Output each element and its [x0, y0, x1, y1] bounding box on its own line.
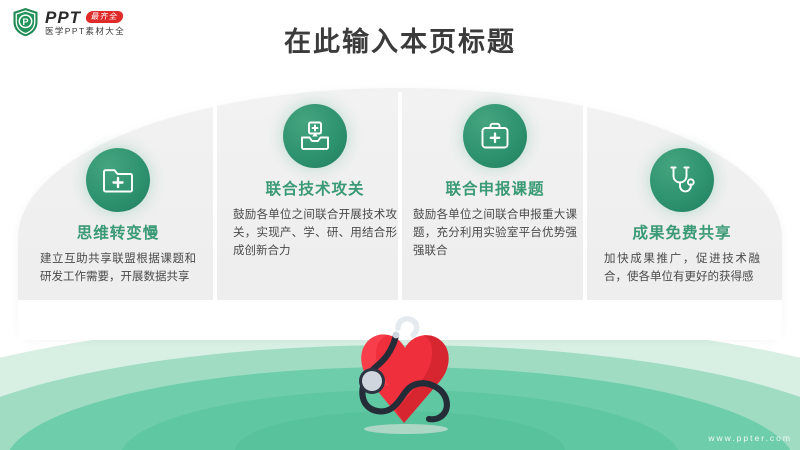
feature-card-1[interactable]: 思维转变慢 建立互助共享联盟根据课题和研发工作需要，开展数据共享	[28, 148, 208, 286]
illustration-shadow	[364, 424, 448, 434]
feature-card-3[interactable]: 联合申报课题 鼓励各单位之间联合申报重大课题，充分利用实验室平台优势强强联合	[405, 104, 585, 260]
stethoscope-icon[interactable]	[650, 148, 714, 212]
heart-with-stethoscope-illustration	[330, 315, 480, 440]
card-title: 思维转变慢	[28, 221, 208, 243]
card-body: 鼓励各单位之间联合申报重大课题，充分利用实验室平台优势强强联合	[405, 206, 585, 260]
panel-divider-1	[213, 92, 217, 310]
stethoscope-earpiece-tube	[398, 319, 417, 335]
medical-briefcase-plus-icon[interactable]	[463, 104, 527, 168]
feature-card-2[interactable]: 联合技术攻关 鼓励各单位之间联合开展技术攻关，实现产、学、研、用结合形成创新合力	[225, 104, 405, 260]
card-title: 成果免费共享	[592, 221, 772, 243]
card-title: 联合技术攻关	[225, 177, 405, 199]
site-watermark: www.ppter.com	[708, 433, 792, 443]
inbox-upload-plus-icon[interactable]	[283, 104, 347, 168]
card-body: 建立互助共享联盟根据课题和研发工作需要，开展数据共享	[28, 250, 208, 286]
stethoscope-connector	[393, 332, 400, 339]
page-title: 在此输入本页标题	[0, 20, 800, 59]
card-title: 联合申报课题	[405, 177, 585, 199]
card-body: 鼓励各单位之间联合开展技术攻关，实现产、学、研、用结合形成创新合力	[225, 206, 405, 260]
chestpiece-diaphragm	[362, 371, 382, 391]
feature-card-4[interactable]: 成果免费共享 加快成果推广，促进技术融合，使各单位有更好的获得感	[592, 148, 772, 286]
slide-canvas: P PPT 最齐全 医学PPT素材大全 在此输入本页标题 思维转变慢 建立互助共…	[0, 0, 800, 450]
folder-plus-icon[interactable]	[86, 148, 150, 212]
card-body: 加快成果推广，促进技术融合，使各单位有更好的获得感	[592, 250, 772, 286]
